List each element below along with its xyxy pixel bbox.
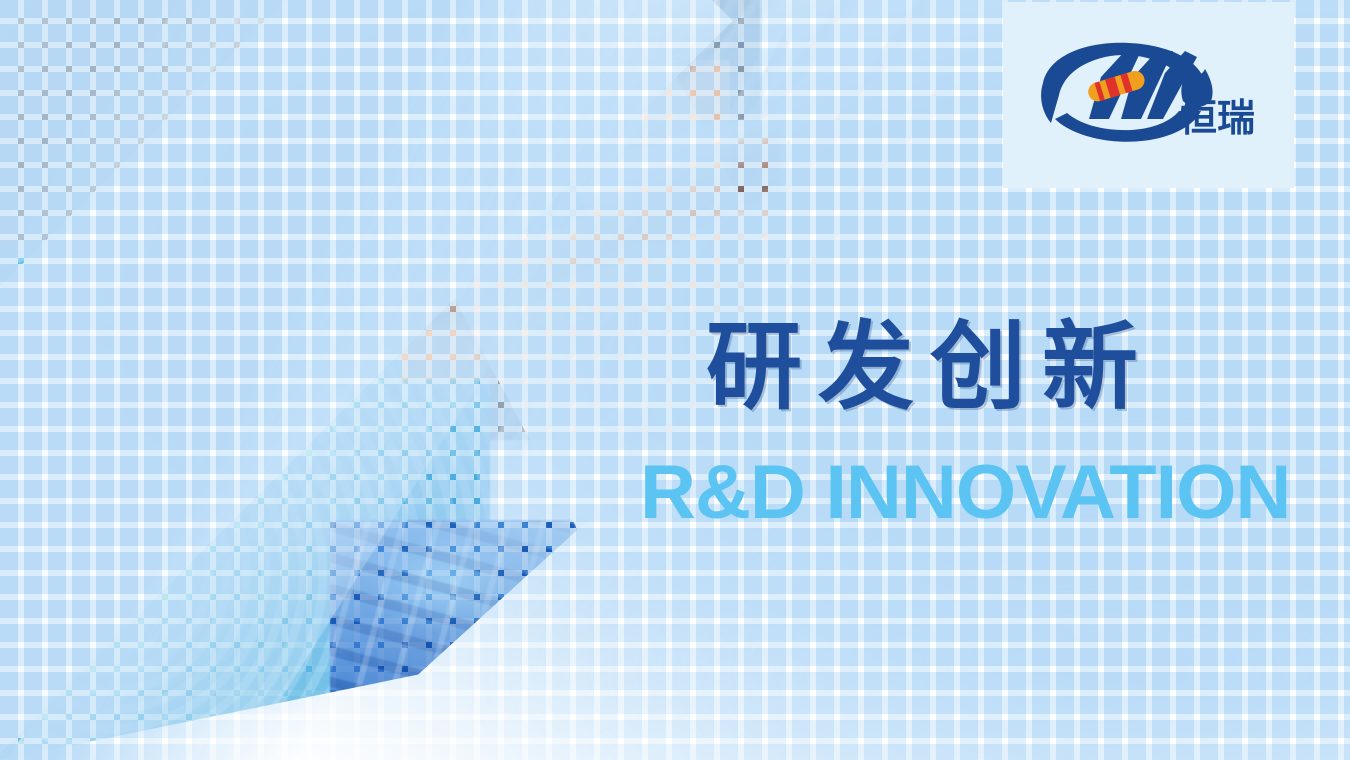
page-title-chinese: 研发创新	[706, 320, 1154, 416]
rd-innovation-banner: 研发创新 R&D INNOVATION	[0, 0, 1350, 760]
logo-panel[interactable]: 恒瑞	[1003, 2, 1294, 188]
page-title-english: R&D INNOVATION	[640, 455, 1290, 531]
logo-wordmark-text: 恒瑞	[1179, 96, 1255, 140]
hengrui-logo-icon: 恒瑞	[1029, 39, 1269, 151]
